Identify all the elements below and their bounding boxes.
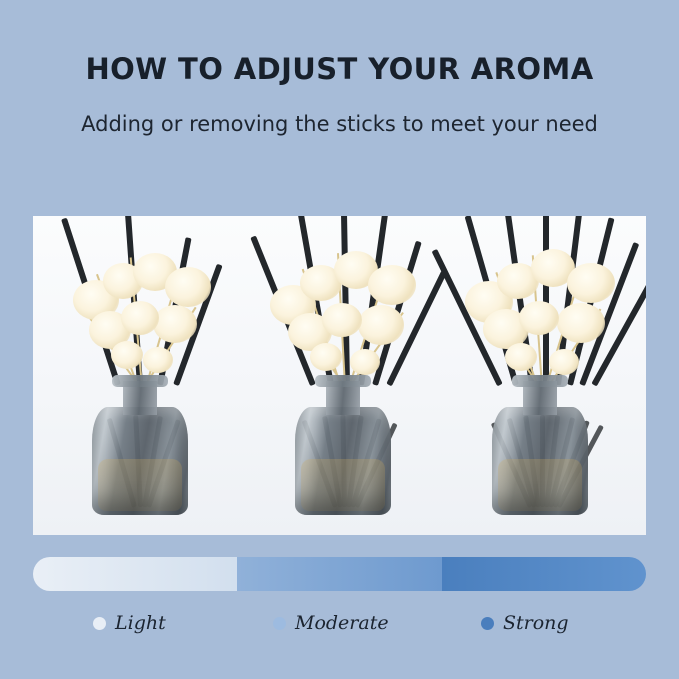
flower-cluster	[358, 305, 404, 345]
diffuser-bottle	[92, 375, 188, 515]
diffuser-bottle	[492, 375, 588, 515]
flower-cluster	[519, 301, 559, 335]
flower-cluster	[567, 263, 615, 303]
legend-label: Light	[115, 612, 166, 634]
diffuser-light	[45, 216, 235, 535]
page-subtitle: Adding or removing the sticks to meet yo…	[0, 112, 679, 136]
legend-item-strong: Strong	[481, 612, 569, 634]
flower-cluster	[143, 347, 173, 373]
flower-cluster	[505, 343, 537, 371]
intensity-segment-light	[33, 557, 237, 591]
diffuser-strong	[445, 216, 635, 535]
bottle-lip	[512, 375, 568, 387]
flower-cluster	[549, 349, 579, 375]
flower-cluster	[310, 343, 342, 371]
diffuser-moderate	[248, 216, 438, 535]
diffuser-photo	[33, 216, 646, 535]
legend-item-moderate: Moderate	[273, 612, 389, 634]
flower-cluster	[165, 267, 211, 307]
bottle-liquid	[98, 459, 182, 511]
diffuser-bottle	[295, 375, 391, 515]
page-title: HOW TO ADJUST YOUR AROMA	[0, 52, 679, 86]
flower-cluster	[557, 303, 605, 343]
flower-cluster	[350, 349, 380, 375]
flower-cluster	[322, 303, 362, 337]
bottle-liquid	[498, 459, 582, 511]
flower-cluster	[368, 265, 416, 305]
flower-cluster	[111, 341, 143, 369]
legend-dot-icon	[481, 617, 494, 630]
intensity-segment-strong	[442, 557, 646, 591]
legend-dot-icon	[93, 617, 106, 630]
intensity-bar	[33, 557, 646, 591]
intensity-segment-moderate	[237, 557, 441, 591]
flower-cluster	[121, 301, 159, 335]
legend-label: Strong	[503, 612, 569, 634]
bottle-lip	[315, 375, 371, 387]
photo-background	[33, 216, 646, 535]
legend-label: Moderate	[295, 612, 389, 634]
legend: Light Moderate Strong	[33, 612, 646, 642]
legend-dot-icon	[273, 617, 286, 630]
flower-cluster	[153, 305, 197, 343]
bottle-lip	[112, 375, 168, 387]
bottle-liquid	[301, 459, 385, 511]
aroma-infographic: HOW TO ADJUST YOUR AROMA Adding or remov…	[0, 0, 679, 679]
legend-item-light: Light	[93, 612, 166, 634]
